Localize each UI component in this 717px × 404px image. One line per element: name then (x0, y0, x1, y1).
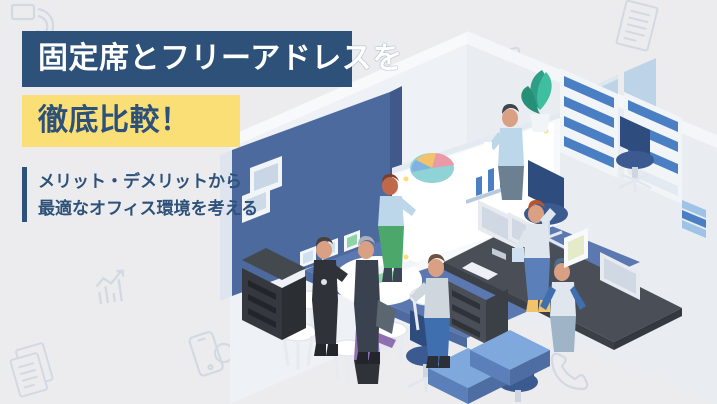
bar-chart-icon (92, 268, 136, 310)
subtitle-block: メリット・デメリットから 最適なオフィス環境を考える (22, 167, 258, 222)
subtitle-line-2: 最適なオフィス環境を考える (38, 195, 258, 222)
headline-line-1: 固定席とフリーアドレスを (22, 31, 352, 87)
subtitle-line-1: メリット・デメリットから (38, 168, 258, 195)
subtitle-lines: メリット・デメリットから 最適なオフィス環境を考える (38, 167, 258, 222)
subtitle-accent-bar (22, 167, 27, 222)
documents-stack-icon (6, 342, 64, 400)
headline-line-1-text: 固定席とフリーアドレスを (38, 44, 403, 74)
headline-line-2-text: 徹底比較！ (38, 106, 191, 136)
headline-line-2: 徹底比較！ (22, 95, 240, 147)
hero-banner: 固定席とフリーアドレスを 徹底比較！ メリット・デメリットから 最適なオフィス環… (0, 0, 717, 404)
